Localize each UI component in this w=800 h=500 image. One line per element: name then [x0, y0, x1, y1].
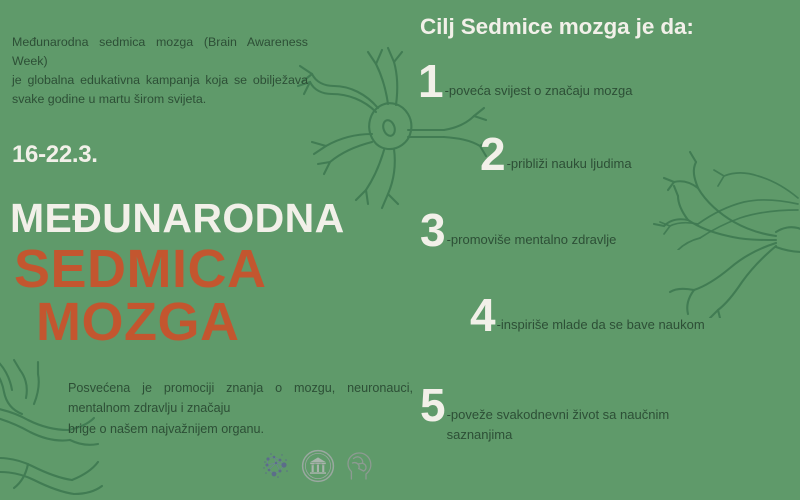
goal-number-2: 2	[480, 131, 505, 177]
goal-number-4: 4	[470, 292, 495, 338]
goal-number-5: 5	[420, 382, 445, 428]
poster-title: MEĐUNARODNA SEDMICA MOZGA	[10, 198, 420, 350]
goal-text-4: -inspiriše mlade da se bave naukom	[497, 315, 705, 335]
neural-network-logo	[262, 451, 292, 481]
goal-item-5: 5 -poveže svakodnevni život sa naučnim s…	[420, 382, 780, 446]
poster-canvas: Međunarodna sedmica mozga (Brain Awarene…	[0, 0, 800, 500]
goals-heading: Cilj Sedmice mozga je da:	[420, 14, 694, 40]
goal-text-2: -približi nauku ljudima	[507, 154, 632, 174]
title-line-mozga: MOZGA	[10, 295, 420, 350]
outro-paragraph: Posvećena je promociji znanja o mozgu, n…	[68, 378, 413, 439]
right-content-column: Cilj Sedmice mozga je da: 1 -poveća svij…	[408, 0, 800, 500]
goal-text-5: -poveže svakodnevni život sa naučnim saz…	[447, 405, 747, 444]
goal-text-3: -promoviše mentalno zdravlje	[447, 230, 617, 250]
goal-number-3: 3	[420, 207, 445, 253]
intro-paragraph: Međunarodna sedmica mozga (Brain Awarene…	[12, 33, 308, 108]
intro-paragraph-line-1: Međunarodna sedmica mozga (Brain Awarene…	[12, 35, 308, 68]
goal-item-4: 4 -inspiriše mlade da se bave naukom	[470, 292, 800, 338]
goal-item-3: 3 -promoviše mentalno zdravlje	[420, 207, 750, 253]
outro-paragraph-line-1: Posvećena je promociji znanja o mozgu, n…	[68, 381, 413, 415]
event-date: 16-22.3.	[12, 141, 98, 169]
goal-item-1: 1 -poveća svijest o značaju mozga	[418, 58, 748, 104]
goal-text-5-line-2: saznanjima	[447, 425, 747, 445]
goal-item-2: 2 -približi nauku ljudima	[480, 131, 780, 177]
left-content-column: Međunarodna sedmica mozga (Brain Awarene…	[0, 0, 420, 500]
goal-text-1: -poveća svijest o značaju mozga	[445, 81, 633, 101]
head-brain-profile-logo	[344, 450, 374, 482]
intro-paragraph-line-2: je globalna edukativna kampanja koja se …	[12, 73, 308, 106]
goal-text-5-line-1: -poveže svakodnevni život sa naučnim	[447, 407, 670, 422]
outro-paragraph-line-2: brige o našem najvažnijem organu.	[68, 422, 264, 436]
logo-row	[262, 449, 374, 483]
title-line-medunarodna: MEĐUNARODNA	[10, 198, 420, 240]
institution-seal-logo	[301, 449, 335, 483]
goal-number-1: 1	[418, 58, 443, 104]
title-line-sedmica: SEDMICA	[10, 242, 420, 297]
